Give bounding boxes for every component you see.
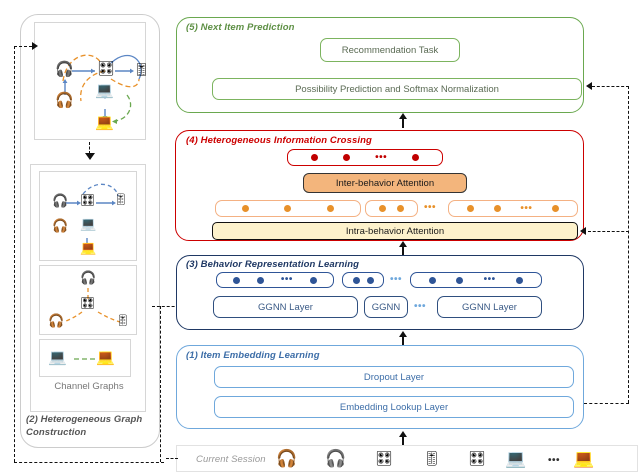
headphones-brown-icon: 🎧: [48, 314, 64, 327]
session-item-laptop-orange-screen-icon[interactable]: 💻: [573, 450, 594, 467]
session-item-headphones-brown-icon[interactable]: 🎧: [276, 450, 297, 467]
left-feedback-arrowhead: [32, 42, 38, 50]
mid-dashed-vline: [160, 306, 161, 462]
behavior-dot: [494, 205, 501, 212]
arrow-s3-to-s4-line: [402, 246, 404, 255]
right-feedback-hline-s5: [592, 86, 629, 87]
rep-dot: [429, 277, 436, 284]
session-item-earbuds-case-icon-2[interactable]: 🎛: [468, 451, 486, 465]
earbuds-open-icon: 🎚: [133, 63, 150, 76]
recommendation-task-box[interactable]: Recommendation Task: [320, 38, 460, 62]
right-feedback-hline-s4: [588, 231, 629, 232]
laptop-teal-screen-icon: 💻: [95, 83, 114, 98]
laptop-orange-screen-icon: 💻: [95, 115, 114, 130]
channel-graphs-label: Channel Graphs: [31, 381, 147, 392]
behavior-rep-dots-group-3: •••: [410, 272, 542, 288]
laptop-teal-screen-icon: 💻: [48, 350, 67, 365]
earbuds-case-icon: 🎛: [80, 297, 95, 309]
rep-dots-ellipsis: •••: [484, 277, 496, 283]
embedding-lookup-layer-box[interactable]: Embedding Lookup Layer: [214, 396, 574, 418]
intra-behavior-dots-group-2: [365, 200, 418, 217]
right-feedback-arrow-s5: [586, 82, 592, 90]
channel-graph-c: 💻 💻: [39, 339, 131, 377]
inter-behavior-attention-box[interactable]: Inter-behavior Attention: [303, 173, 467, 193]
right-feedback-vline: [628, 86, 629, 403]
ggnn-layer-box-2[interactable]: GGNN: [364, 296, 408, 318]
output-dot: [343, 154, 350, 161]
behavior-dot: [327, 205, 334, 212]
section-1-label: (1) Item Embedding Learning: [186, 350, 320, 361]
arrow-s3-to-s4-head: [399, 241, 407, 247]
arrow-s4-to-s5-head: [399, 113, 407, 119]
earbuds-open-icon: 🎚: [116, 316, 130, 327]
session-item-earbuds-case-icon[interactable]: 🎛: [375, 451, 393, 465]
headphones-brown-icon: 🎧: [52, 219, 68, 232]
rep-dot: [353, 277, 360, 284]
ggnn-separator: •••: [414, 304, 426, 310]
possibility-prediction-box[interactable]: Possibility Prediction and Softmax Norma…: [212, 78, 582, 100]
section-4-label: (4) Heterogeneous Information Crossing: [186, 135, 372, 146]
ggnn-layer-box-3[interactable]: GGNN Layer: [437, 296, 542, 318]
channel-graph-a: 🎧 🎧 🎛 🎚 💻 💻: [39, 171, 137, 261]
behavior-dot: [467, 205, 474, 212]
intra-behavior-group-separator: •••: [424, 205, 436, 211]
section-2-label-line1: (2) Heterogeneous Graph: [26, 414, 142, 425]
rep-dot: [233, 277, 240, 284]
arrow-session-to-s1-line: [402, 436, 404, 445]
arrow-s4-to-s5-line: [402, 118, 404, 128]
headphones-white-icon: 🎧: [52, 194, 68, 207]
rep-dot: [456, 277, 463, 284]
headphones-brown-icon: 🎧: [55, 93, 74, 108]
channel-graphs-panel: 🎧 🎧 🎛 🎚 💻 💻 🎧 🎛 🎧 🎚 💻 💻: [30, 164, 146, 412]
laptop-orange-screen-icon: 💻: [96, 350, 115, 365]
channel-graph-b: 🎧 🎛 🎧 🎚: [39, 265, 137, 335]
rep-dot: [367, 277, 374, 284]
left-feedback-hline-bottom: [14, 462, 164, 463]
dropout-layer-box[interactable]: Dropout Layer: [214, 366, 574, 388]
headphones-white-icon: 🎧: [55, 62, 74, 77]
laptop-teal-screen-icon: 💻: [80, 217, 96, 230]
session-item-earbuds-open-icon[interactable]: 🎚: [423, 451, 441, 465]
session-item-headphones-white-icon[interactable]: 🎧: [325, 450, 346, 467]
graph-card-full-svg: [35, 23, 147, 141]
graph-card-full: 🎧 🎧 🎛 🎚 💻 💻: [34, 22, 146, 140]
intra-behavior-dots-group-1: [215, 200, 361, 217]
rep-dot: [516, 277, 523, 284]
output-dots-ellipsis: •••: [375, 155, 387, 161]
session-items-ellipsis-icon: •••: [548, 458, 560, 464]
behavior-dots-ellipsis: •••: [520, 206, 532, 212]
rep-dots-ellipsis: •••: [281, 277, 293, 283]
headphones-white-icon: 🎧: [80, 271, 96, 284]
behavior-dot: [397, 205, 404, 212]
earbuds-case-icon: 🎛: [80, 194, 95, 206]
left-feedback-hline-top: [14, 46, 32, 47]
arrow-s1-to-s3-head: [399, 331, 407, 337]
rep-dot: [310, 277, 317, 284]
ggnn-layer-box-1[interactable]: GGNN Layer: [213, 296, 358, 318]
inter-behavior-output-dots: •••: [287, 149, 443, 166]
earbuds-open-icon: 🎚: [114, 195, 128, 206]
laptop-orange-screen-icon: 💻: [80, 241, 96, 254]
arrow-session-to-s1-head: [399, 431, 407, 437]
behavior-dot: [284, 205, 291, 212]
current-session-label: Current Session: [196, 454, 266, 465]
intra-behavior-dots-group-3: •••: [448, 200, 578, 217]
section-5-label: (5) Next Item Prediction: [186, 22, 295, 33]
arrow-s1-to-s3-line: [402, 336, 404, 345]
session-bar-left-dash: [166, 458, 178, 459]
behavior-rep-group-separator: •••: [390, 277, 402, 283]
behavior-dot: [242, 205, 249, 212]
right-feedback-arrow-s4: [580, 227, 586, 235]
behavior-dot: [552, 205, 559, 212]
section-3-label: (3) Behavior Representation Learning: [186, 259, 359, 270]
behavior-rep-dots-group-1: •••: [216, 272, 334, 288]
right-feedback-hline-s1: [584, 403, 629, 404]
graph-construct-arrow-head: [85, 153, 95, 160]
session-item-laptop-teal-screen-icon[interactable]: 💻: [505, 450, 526, 467]
channel-graphs-container: 🎧 🎧 🎛 🎚 💻 💻 🎧 🎧 🎛 🎚 💻: [30, 22, 150, 412]
intra-behavior-attention-box[interactable]: Intra-behavior Attention: [212, 222, 578, 240]
rep-dot: [257, 277, 264, 284]
behavior-dot: [379, 205, 386, 212]
section-2-label-line2: Construction: [26, 427, 86, 438]
output-dot: [311, 154, 318, 161]
output-dot: [412, 154, 419, 161]
left-feedback-vline: [14, 46, 15, 462]
earbuds-case-icon: 🎛: [97, 61, 115, 75]
behavior-rep-dots-group-2: [342, 272, 384, 288]
